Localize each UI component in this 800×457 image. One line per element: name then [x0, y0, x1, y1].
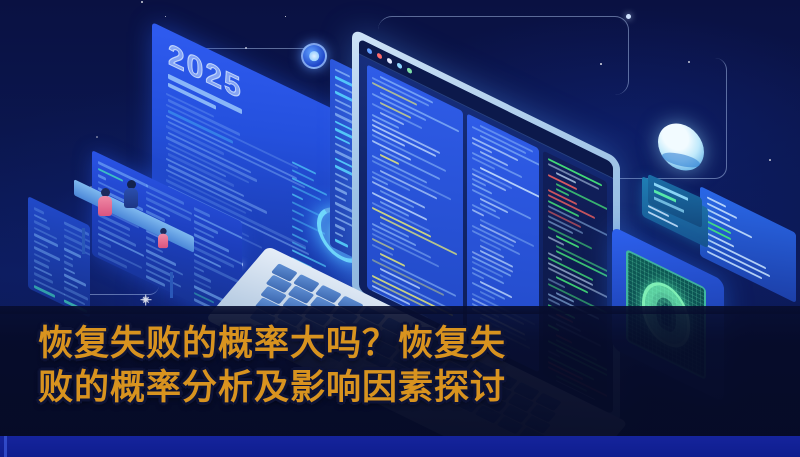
- connector-wire-right: [600, 58, 727, 179]
- page-title: 恢复失败的概率大吗？恢复失 败的概率分析及影响因素探讨: [38, 322, 778, 410]
- panel-line: [335, 187, 347, 195]
- title-line-2: 败的概率分析及影响因素探讨: [38, 366, 778, 410]
- wire-endpoint-dot-c: [626, 14, 631, 19]
- star: [769, 159, 771, 161]
- panel-line: [335, 239, 348, 248]
- code-line: [548, 226, 592, 250]
- panel-line: [335, 231, 343, 237]
- monitor-line: [34, 207, 44, 214]
- code-line: [472, 225, 514, 248]
- star: [141, 295, 150, 304]
- star: [141, 1, 143, 3]
- banner-image: 2025: [0, 0, 800, 457]
- code-line: [372, 82, 417, 106]
- monitor-line: [98, 174, 106, 180]
- monitor-line: [64, 260, 73, 267]
- star: [96, 136, 98, 138]
- file-tree-pane: [367, 64, 463, 335]
- star: [285, 16, 286, 17]
- panel-line: [335, 194, 346, 202]
- bottom-accent-bar: [0, 436, 800, 457]
- shield-node-top-icon: [301, 43, 327, 69]
- monitor-line: [64, 254, 73, 261]
- desk-leg-right: [170, 272, 173, 298]
- panel-line: [335, 224, 345, 231]
- operator-pink-body: [98, 196, 112, 216]
- desk-leg-left: [82, 228, 85, 254]
- operator-blue-body: [124, 188, 138, 208]
- monitor-line: [146, 236, 155, 243]
- monitor-line: [64, 273, 86, 286]
- title-line-1: 恢复失败的概率大吗？恢复失: [38, 322, 778, 366]
- operator-small-body: [158, 234, 168, 248]
